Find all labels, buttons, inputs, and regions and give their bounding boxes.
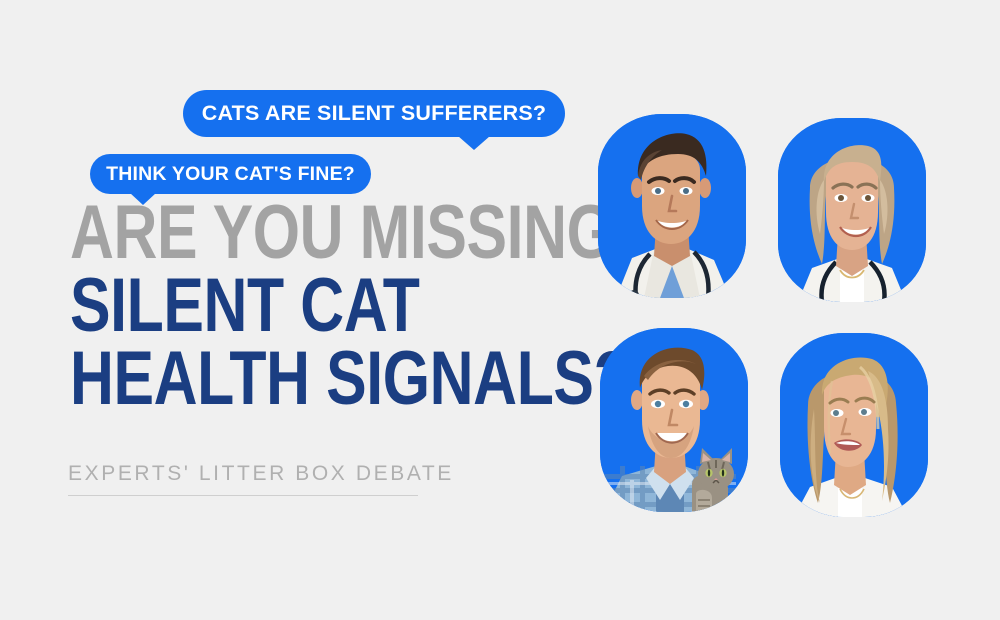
speech-bubble-tail (458, 136, 490, 150)
speech-bubble-label: CATS ARE SILENT SUFFERERS? (202, 101, 546, 126)
photo-man-with-cat (600, 328, 748, 512)
expert-photo-grid (596, 112, 966, 512)
headline-column: CATS ARE SILENT SUFFERERS? THINK YOUR CA… (0, 0, 600, 620)
photo-female-veterinarian (778, 118, 926, 302)
headline-line-1: ARE YOU MISSING (70, 196, 486, 269)
subtitle-text: EXPERTS' LITTER BOX DEBATE (68, 462, 420, 486)
page-title: ARE YOU MISSING SILENT CAT HEALTH SIGNAL… (70, 196, 590, 415)
photo-blonde-woman (780, 333, 928, 517)
speech-bubble-cats-silent-sufferers: CATS ARE SILENT SUFFERERS? (183, 90, 565, 137)
subtitle-divider (68, 495, 418, 496)
speech-bubble-think-your-cat-fine: THINK YOUR CAT'S FINE? (90, 154, 371, 194)
subtitle-block: EXPERTS' LITTER BOX DEBATE (68, 462, 420, 496)
speech-bubble-label: THINK YOUR CAT'S FINE? (106, 163, 355, 186)
headline-line-2: SILENT CAT (70, 269, 486, 342)
photo-male-veterinarian (598, 114, 746, 298)
headline-line-3: HEALTH SIGNALS? (70, 342, 486, 415)
cat-health-promo-banner: CATS ARE SILENT SUFFERERS? THINK YOUR CA… (0, 0, 1000, 620)
